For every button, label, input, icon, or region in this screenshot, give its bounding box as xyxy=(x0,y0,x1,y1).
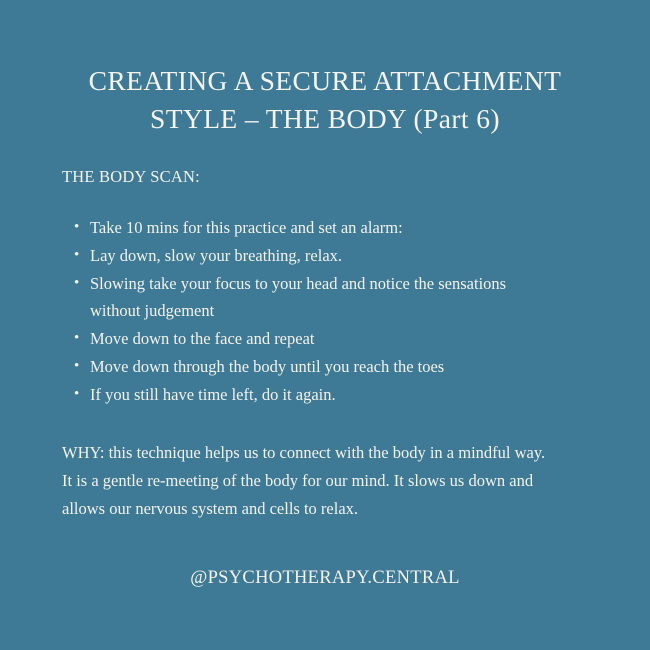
list-item: Slowing take your focus to your head and… xyxy=(62,270,560,324)
section-subheading: THE BODY SCAN: xyxy=(62,166,588,188)
social-handle: @PSYCHOTHERAPY.CENTRAL xyxy=(62,566,588,590)
list-item: Take 10 mins for this practice and set a… xyxy=(62,214,560,241)
title-line-1: CREATING A SECURE ATTACHMENT xyxy=(62,62,588,100)
page-title: CREATING A SECURE ATTACHMENT STYLE – THE… xyxy=(62,0,588,138)
list-item: Lay down, slow your breathing, relax. xyxy=(62,242,560,269)
title-line-2: STYLE – THE BODY (Part 6) xyxy=(62,100,588,138)
why-explanation-paragraph: WHY: this technique helps us to connect … xyxy=(62,439,554,523)
list-item: Move down to the face and repeat xyxy=(62,325,560,352)
list-item: If you still have time left, do it again… xyxy=(62,381,560,408)
body-scan-steps-list: Take 10 mins for this practice and set a… xyxy=(62,214,588,408)
slide-canvas: CREATING A SECURE ATTACHMENT STYLE – THE… xyxy=(0,0,650,650)
list-item: Move down through the body until you rea… xyxy=(62,353,560,380)
